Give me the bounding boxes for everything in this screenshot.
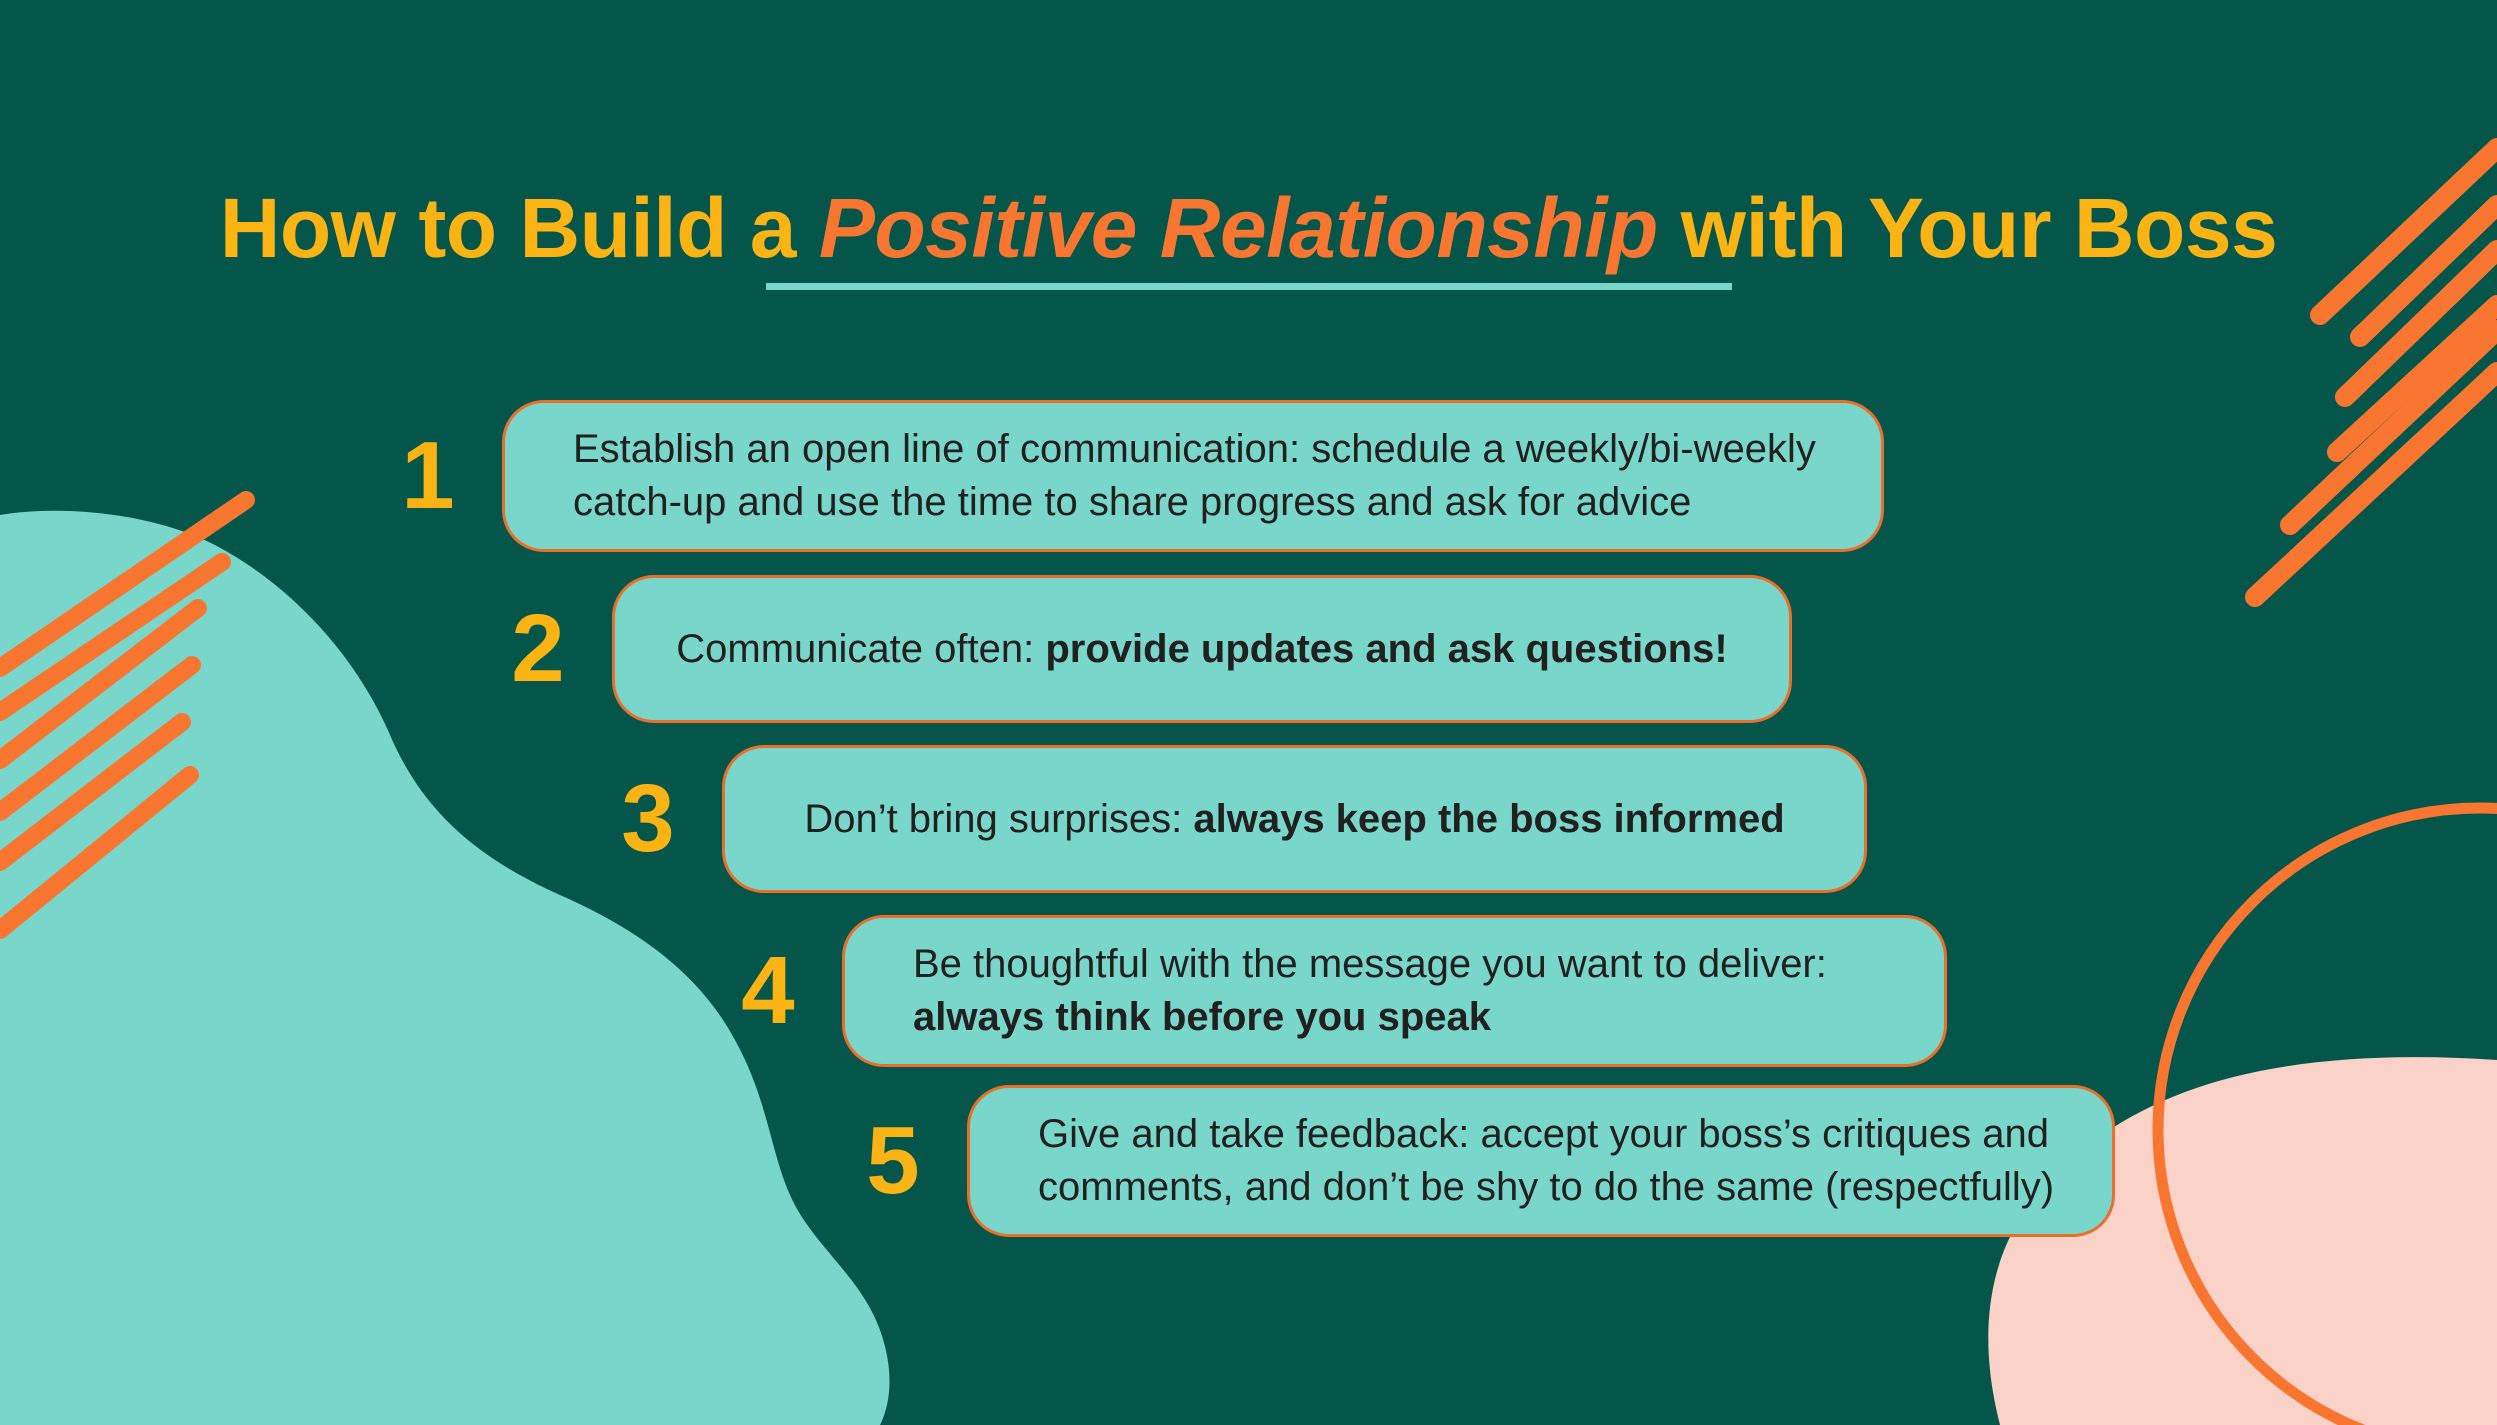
steps-list: 1 Establish an open line of communicatio… bbox=[0, 0, 2497, 1425]
list-item[interactable]: 5 Give and take feedback: accept your bo… bbox=[845, 1085, 2115, 1237]
step-line: Give and take feedback: accept your boss… bbox=[1038, 1108, 2078, 1161]
step-number: 2 bbox=[490, 601, 586, 697]
step-box[interactable]: Establish an open line of communication:… bbox=[502, 400, 1884, 552]
step-box[interactable]: Communicate often: provide updates and a… bbox=[612, 575, 1792, 723]
step-line-normal: Establish an open line of communication:… bbox=[573, 427, 1816, 471]
step-line: comments, and don’t be shy to do the sam… bbox=[1038, 1161, 2078, 1214]
step-number: 1 bbox=[380, 428, 476, 524]
step-number: 5 bbox=[845, 1113, 941, 1209]
list-item[interactable]: 2 Communicate often: provide updates and… bbox=[490, 575, 1792, 723]
list-item[interactable]: 3 Don’t bring surprises: always keep the… bbox=[600, 745, 1867, 893]
step-number: 4 bbox=[720, 943, 816, 1039]
step-line-normal: Communicate often: bbox=[676, 627, 1045, 671]
step-line-normal: Give and take feedback: accept your boss… bbox=[1038, 1112, 2049, 1156]
list-item[interactable]: 4 Be thoughtful with the message you wan… bbox=[720, 915, 1947, 1067]
step-line-normal: comments, and don’t be shy to do the sam… bbox=[1038, 1165, 2054, 1209]
step-number: 3 bbox=[600, 771, 696, 867]
list-item[interactable]: 1 Establish an open line of communicatio… bbox=[380, 400, 1884, 552]
step-line-bold: provide updates and ask questions! bbox=[1045, 627, 1727, 671]
step-line-normal: Be thoughtful with the message you want … bbox=[913, 942, 1827, 986]
step-box[interactable]: Give and take feedback: accept your boss… bbox=[967, 1085, 2115, 1237]
step-line-normal: Don’t bring surprises: bbox=[804, 797, 1193, 841]
step-text: Give and take feedback: accept your boss… bbox=[970, 1108, 2112, 1214]
step-line: Don’t bring surprises: always keep the b… bbox=[759, 793, 1830, 846]
step-line: Communicate often: provide updates and a… bbox=[649, 623, 1755, 676]
step-text: Communicate often: provide updates and a… bbox=[615, 623, 1789, 676]
step-box[interactable]: Be thoughtful with the message you want … bbox=[842, 915, 1947, 1067]
step-line: Be thoughtful with the message you want … bbox=[913, 938, 1910, 991]
step-line: catch-up and use the time to share progr… bbox=[573, 476, 1847, 529]
step-line-normal: catch-up and use the time to share progr… bbox=[573, 480, 1691, 524]
step-line-bold: always keep the boss informed bbox=[1193, 797, 1784, 841]
step-text: Establish an open line of communication:… bbox=[505, 423, 1881, 529]
infographic-poster: How to Build a Positive Relationship wit… bbox=[0, 0, 2497, 1425]
step-box[interactable]: Don’t bring surprises: always keep the b… bbox=[722, 745, 1867, 893]
step-text: Don’t bring surprises: always keep the b… bbox=[725, 793, 1864, 846]
step-line: Establish an open line of communication:… bbox=[573, 423, 1847, 476]
step-line: always think before you speak bbox=[913, 991, 1910, 1044]
step-text: Be thoughtful with the message you want … bbox=[845, 938, 1944, 1044]
step-line-bold: always think before you speak bbox=[913, 995, 1491, 1039]
